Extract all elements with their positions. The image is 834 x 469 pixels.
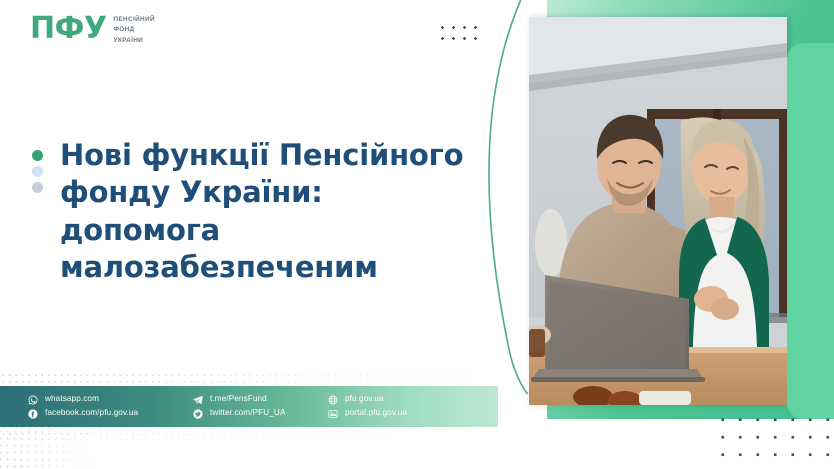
bullet-dot-gray: [32, 182, 43, 193]
bullet-dot-blue: [32, 166, 43, 177]
contact-label: pfu.gov.ua: [345, 395, 384, 403]
hero-photo: [529, 17, 787, 405]
contact-label: twitter.com/PFU_UA: [210, 409, 286, 417]
whatsapp-icon: [28, 395, 38, 405]
portal-icon: [328, 409, 338, 419]
contact-label: t.me/PensFund: [210, 395, 267, 403]
contact-website[interactable]: pfu.gov.ua: [328, 395, 458, 405]
halftone-texture-above-footer: [0, 372, 470, 386]
contact-portal[interactable]: portal.pfu.gov.ua: [328, 409, 458, 419]
pfu-logo-mark: ПФУ: [30, 14, 107, 44]
telegram-icon: [193, 395, 203, 405]
globe-icon: [328, 395, 338, 405]
contact-label: portal.pfu.gov.ua: [345, 409, 407, 417]
poster-canvas: ПФУ ПЕНСІЙНИЙ ФОНД УКРАЇНИ Нові функції …: [0, 0, 834, 469]
facebook-icon: [28, 409, 38, 419]
contact-columns: whatsapp.com facebook.com/pfu.gov.ua: [0, 395, 498, 419]
contact-facebook[interactable]: facebook.com/pfu.gov.ua: [28, 409, 193, 419]
headline-bullet-dots: [32, 150, 43, 193]
headline-block: Нові функції Пенсійного фонду України: д…: [60, 137, 480, 287]
logo-line-1: ПЕНСІЙНИЙ: [114, 15, 155, 24]
twitter-icon: [193, 409, 203, 419]
logo-line-2: ФОНД: [114, 25, 155, 34]
contact-label: whatsapp.com: [45, 395, 99, 403]
green-side-tab: [787, 43, 834, 419]
contact-twitter[interactable]: twitter.com/PFU_UA: [193, 409, 328, 419]
contact-column-1: whatsapp.com facebook.com/pfu.gov.ua: [28, 395, 193, 419]
pfu-logo: ПФУ ПЕНСІЙНИЙ ФОНД УКРАЇНИ: [30, 14, 155, 45]
page-title: Нові функції Пенсійного фонду України: д…: [60, 137, 480, 287]
pfu-logo-wordmark: ПЕНСІЙНИЙ ФОНД УКРАЇНИ: [114, 14, 155, 45]
contact-column-2: t.me/PensFund twitter.com/PFU_UA: [193, 395, 328, 419]
contact-telegram[interactable]: t.me/PensFund: [193, 395, 328, 405]
bullet-dot-green: [32, 150, 43, 161]
contact-column-3: pfu.gov.ua portal.pfu.gov.ua: [328, 395, 458, 419]
contact-label: facebook.com/pfu.gov.ua: [45, 409, 138, 417]
logo-line-3: УКРАЇНИ: [114, 36, 155, 45]
dot-grid-top-center: [437, 22, 483, 47]
contact-whatsapp[interactable]: whatsapp.com: [28, 395, 193, 405]
contact-footer-bar: whatsapp.com facebook.com/pfu.gov.ua: [0, 386, 498, 427]
